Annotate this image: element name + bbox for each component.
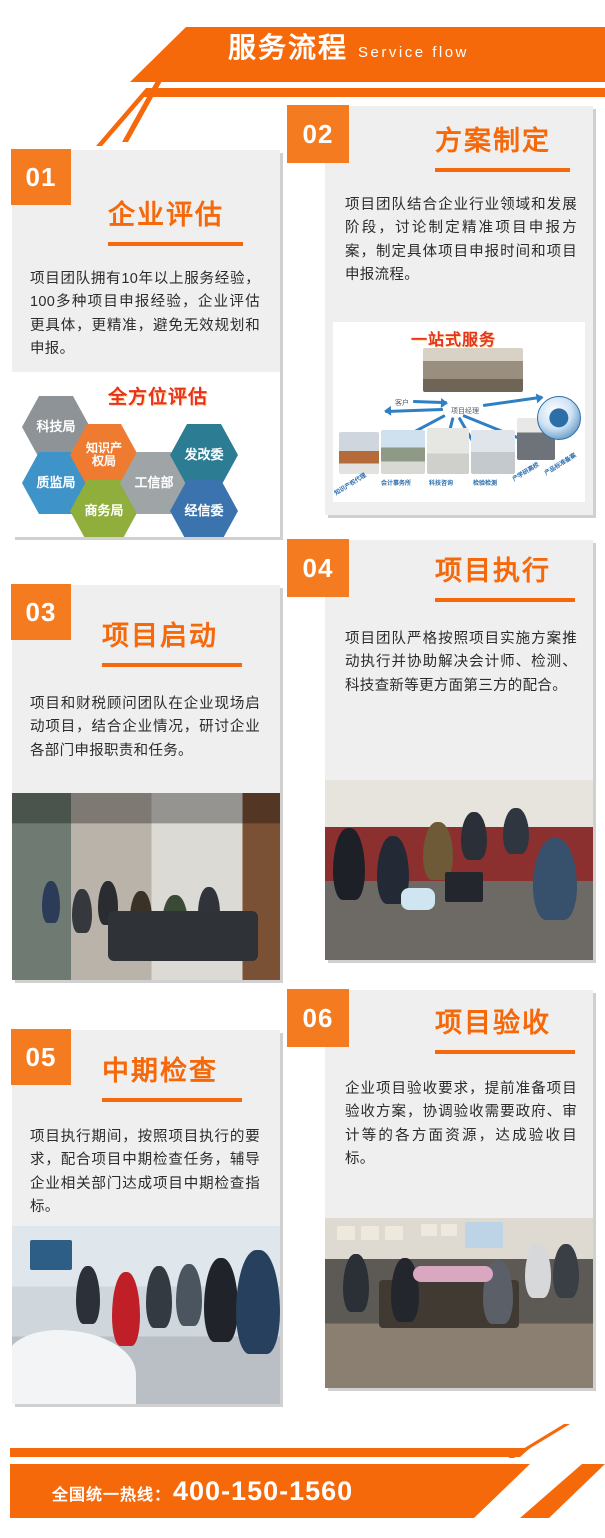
step-body-06: 企业项目验收要求，提前准备项目验收方案，协调验收需要政府、审计等的各方面资源，达… (345, 1078, 577, 1172)
photo-figure-red-coat (112, 1272, 140, 1346)
page-header: 服务流程 Service flow (0, 0, 605, 105)
photo-figure (533, 838, 577, 920)
hex-node-label: 质监局 (36, 476, 75, 490)
photo-figure (204, 1258, 238, 1342)
one-stop-arrow (385, 408, 443, 413)
photo-frame (361, 1226, 379, 1240)
photo-site-tour-05 (12, 1226, 280, 1404)
page-subtitle: Service flow (358, 45, 469, 60)
page-title: 服务流程 (228, 34, 348, 62)
hex-node-label: 经信委 (184, 504, 223, 518)
hex-node-label: 发改委 (184, 448, 223, 462)
step-body-05: 项目执行期间，按照项目执行的要求，配合项目中期检查任务，辅导企业相关部门达成项目… (30, 1126, 260, 1220)
photo-conference-room-03 (12, 793, 280, 980)
footer-stripe-slant (508, 1424, 570, 1458)
step-card-02: 方案制定 项目团队结合企业行业领域和发展阶段，讨论制定精准项目申报方案，制定具体… (325, 106, 593, 515)
one-stop-photo-consulting (427, 428, 469, 474)
photo-figure (42, 881, 60, 923)
hex-node-label: 工信部 (134, 476, 173, 490)
one-stop-node-customer: 客户 (395, 398, 409, 408)
one-stop-label-testing: 检验检测 (473, 478, 497, 487)
step-badge-01: 01 (11, 149, 71, 205)
one-stop-label-accounting: 会计事务所 (381, 478, 411, 487)
footer-hotline-group: 全国统一热线： 400-150-1560 (52, 1476, 353, 1507)
photo-acceptance-meeting-06 (325, 1218, 593, 1388)
footer-band-slant (520, 1464, 605, 1518)
title-underline-03 (102, 663, 242, 667)
photo-table (108, 911, 258, 961)
photo-frame (441, 1224, 457, 1236)
photo-device (401, 888, 435, 910)
photo-frame (421, 1224, 437, 1236)
step-title-04: 项目执行 (435, 558, 551, 585)
title-underline-05 (102, 1098, 242, 1102)
one-stop-diagram-02: 一站式服务 客户 项目经理 知识产权代理 会计事务所 科技咨询 检验检测 产学研… (333, 322, 585, 502)
step-card-04: 项目执行 项目团队严格按照项目实施方案推动执行并协助解决会计师、检测、科技查新等… (325, 540, 593, 960)
service-flow-infographic: 服务流程 Service flow 企业评估 项目团队拥有10年以上服务经验，1… (0, 0, 605, 1538)
hex-diagram-title: 全方位评估 (108, 382, 208, 409)
hex-node-label: 知识产权局 (82, 442, 126, 467)
hex-node-label: 商务局 (84, 504, 123, 518)
step-number-01: 01 (26, 162, 57, 193)
step-title-05: 中期检查 (102, 1058, 218, 1085)
hex-diagram-01: 全方位评估 科技局 质监局 知识产权局 商务局 工信部 发改委 经信委 (12, 372, 280, 537)
step-number-05: 05 (26, 1042, 57, 1073)
photo-figure (553, 1244, 579, 1298)
title-underline-04 (435, 598, 575, 602)
page-footer: 全国统一热线： 400-150-1560 (0, 1410, 605, 1538)
one-stop-photo-ip (339, 432, 379, 474)
photo-figure (72, 889, 92, 933)
footer-stripe (10, 1448, 530, 1457)
photo-screen (30, 1240, 72, 1270)
step-body-04: 项目团队严格按照项目实施方案推动执行并协助解决会计师、检测、科技查新等更方面第三… (345, 628, 577, 698)
photo-laptop (445, 872, 483, 902)
photo-figure (343, 1254, 369, 1312)
one-stop-iso-seal (537, 396, 581, 440)
step-title-02: 方案制定 (435, 128, 551, 155)
title-underline-01 (108, 242, 243, 246)
one-stop-title: 一站式服务 (411, 326, 496, 350)
step-card-01: 企业评估 项目团队拥有10年以上服务经验，100多种项目申报经验，企业评估更具体… (12, 150, 280, 537)
title-underline-02 (435, 168, 570, 172)
photo-figure (503, 808, 529, 854)
header-title-group: 服务流程 Service flow (228, 34, 469, 62)
one-stop-label-consulting: 科技咨询 (429, 478, 453, 487)
photo-figure (525, 1244, 551, 1298)
one-stop-hero-photo (423, 348, 523, 392)
step-card-03: 项目启动 项目和财税顾问团队在企业现场启动项目，结合企业情况，研讨企业各部门申报… (12, 585, 280, 980)
photo-figure (333, 828, 365, 900)
step-body-03: 项目和财税顾问团队在企业现场启动项目，结合企业情况，研讨企业各部门申报职责和任务… (30, 693, 260, 763)
header-stripe (142, 88, 605, 97)
photo-figure (236, 1250, 280, 1354)
photo-figure (461, 812, 487, 860)
hotline-label: 全国统一热线： (52, 1481, 171, 1505)
photo-meeting-table-04 (325, 780, 593, 960)
step-number-06: 06 (303, 1003, 334, 1034)
step-card-05: 中期检查 项目执行期间，按照项目执行的要求，配合项目中期检查任务，辅导企业相关部… (12, 1030, 280, 1404)
photo-flowers (413, 1266, 493, 1282)
step-badge-05: 05 (11, 1029, 71, 1085)
step-badge-02: 02 (287, 105, 349, 163)
step-body-02: 项目团队结合企业行业领域和发展阶段，讨论制定精准项目申报方案，制定具体项目申报时… (345, 194, 577, 288)
hotline-number[interactable]: 400-150-1560 (173, 1476, 353, 1507)
photo-frame (385, 1226, 403, 1240)
step-title-01: 企业评估 (108, 202, 224, 229)
hex-node-label: 科技局 (36, 420, 75, 434)
step-title-03: 项目启动 (102, 623, 218, 650)
photo-figure (146, 1266, 172, 1328)
one-stop-label-ip: 知识产权代理 (333, 470, 368, 497)
step-number-02: 02 (303, 119, 334, 150)
title-underline-06 (435, 1050, 575, 1054)
photo-figure (176, 1264, 202, 1326)
step-title-06: 项目验收 (435, 1010, 551, 1037)
step-badge-04: 04 (287, 539, 349, 597)
photo-projector-screen (465, 1222, 503, 1248)
step-body-01: 项目团队拥有10年以上服务经验，100多种项目申报经验，企业评估更具体，更精准，… (30, 268, 260, 362)
step-badge-06: 06 (287, 989, 349, 1047)
one-stop-photo-testing (471, 430, 515, 474)
step-number-04: 04 (303, 553, 334, 584)
step-badge-03: 03 (11, 584, 71, 640)
one-stop-photo-accounting (381, 430, 425, 474)
step-number-03: 03 (26, 597, 57, 628)
photo-frame (337, 1226, 355, 1240)
photo-figure (76, 1266, 100, 1324)
step-card-06: 项目验收 企业项目验收要求，提前准备项目验收方案，协调验收需要政府、审计等的各方… (325, 990, 593, 1388)
one-stop-arrow (413, 400, 447, 404)
one-stop-arrow (483, 396, 543, 407)
